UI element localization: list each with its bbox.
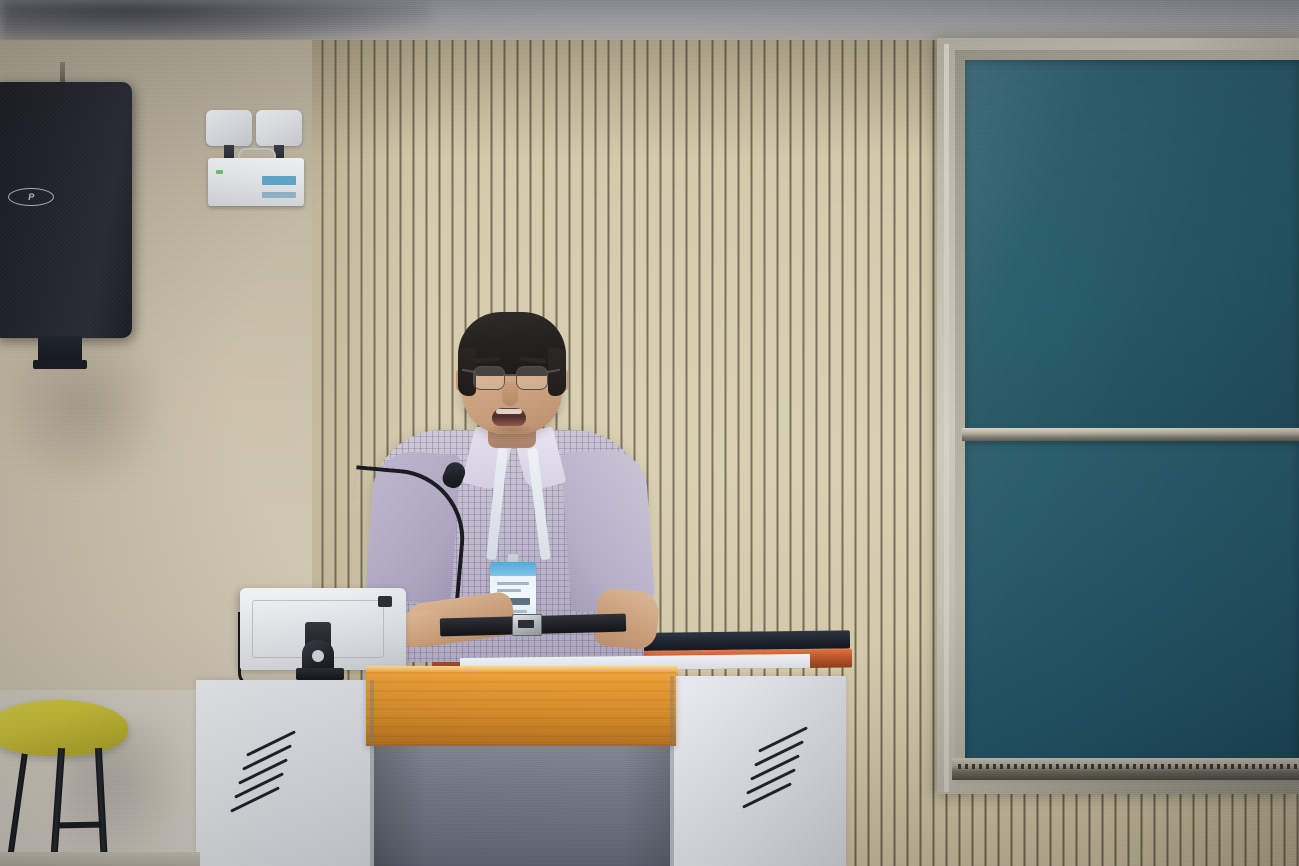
emergency-lamp-left-icon (206, 110, 252, 146)
upper-teeth (496, 409, 522, 414)
chin-shadow (486, 424, 538, 436)
floor (0, 852, 200, 866)
wall-stain (8, 330, 158, 480)
speaker-bracket-plate (33, 360, 87, 369)
eyeglass-lens-right (516, 366, 548, 390)
nose (502, 382, 518, 406)
charge-indicator-led-icon (216, 170, 223, 174)
peavey-logo-icon: P (8, 188, 54, 206)
speaker-grille-icon (0, 82, 132, 338)
chalk-tray-texture (958, 764, 1299, 769)
eyeglass-lens-left (473, 366, 505, 390)
lectern-seam-right (670, 676, 674, 866)
mount-tension-knob[interactable] (312, 650, 324, 662)
badge-text-line-2 (497, 589, 521, 592)
monitor-port-block (378, 596, 392, 607)
blackboard-frame-highlight (944, 44, 949, 792)
emergency-light-label-secondary (262, 192, 296, 198)
lectern-vent-slots-right (740, 736, 830, 826)
presenter-right-shoulder (561, 447, 656, 612)
stool-foot-rung (58, 822, 102, 829)
blackboard-panel-bottom[interactable] (965, 441, 1299, 761)
emergency-light-label (262, 176, 296, 185)
badge-header-band (490, 562, 536, 576)
eyeglass-bridge (503, 374, 517, 376)
badge-text-line-1 (497, 582, 529, 585)
emergency-lamp-right-icon (256, 110, 302, 146)
lectern-vent-slots-left (228, 740, 318, 830)
blackboard-panel-top[interactable] (965, 60, 1299, 432)
lectern-seam-left (370, 680, 374, 866)
lectern-wood-grain (366, 672, 676, 746)
monitor-mount-base (296, 668, 344, 680)
pa-speaker-cabinet (0, 82, 132, 338)
lectern-front-panel-shading (374, 746, 670, 866)
blackboard-divider-rail (962, 428, 1299, 441)
emergency-lamp-neck-left (224, 145, 234, 159)
photograph-scene: P (0, 0, 1299, 866)
chalk-tray (952, 758, 1299, 780)
belt-buckle-inner (518, 620, 534, 628)
